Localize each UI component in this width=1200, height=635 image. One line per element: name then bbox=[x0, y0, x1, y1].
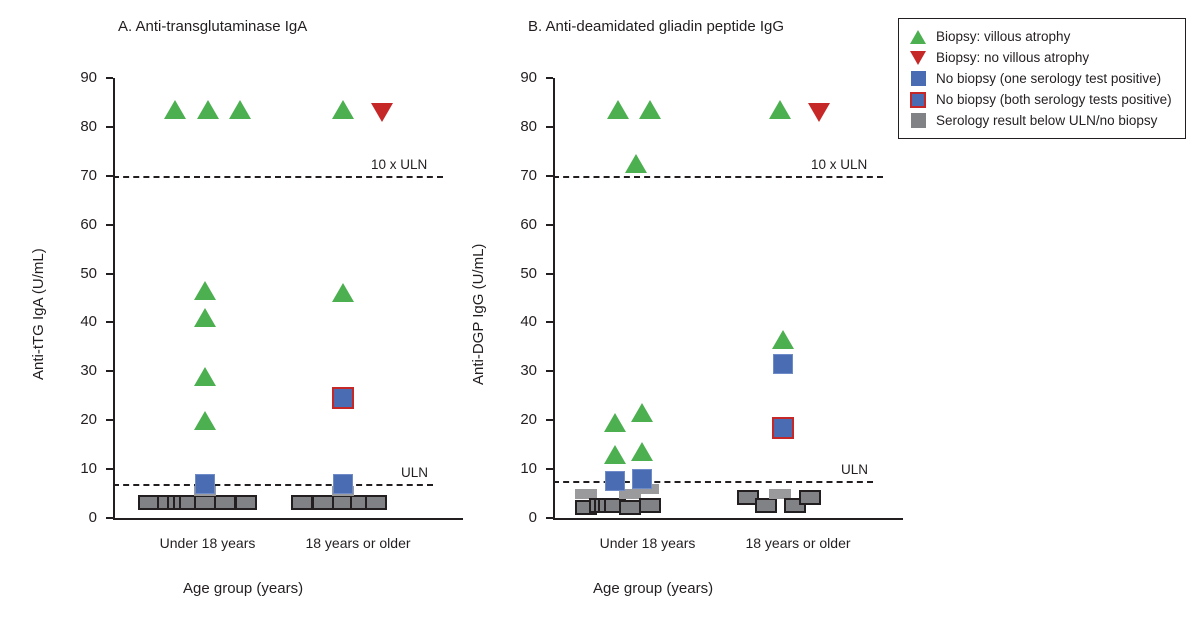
panel-b-x-axis-label: Age group (years) bbox=[593, 580, 713, 597]
y-tick-label: 10 bbox=[507, 460, 537, 477]
marker-triangle-up-green-icon bbox=[625, 154, 647, 173]
marker-triangle-up-green-icon bbox=[164, 100, 186, 119]
y-tick bbox=[106, 370, 113, 372]
marker-square-blue-icon bbox=[773, 354, 793, 374]
y-tick-label: 40 bbox=[67, 313, 97, 330]
reference-line-label: 10 x ULN bbox=[811, 157, 867, 172]
y-tick-label: 50 bbox=[507, 265, 537, 282]
y-tick bbox=[546, 126, 553, 128]
reference-line-label: ULN bbox=[841, 462, 868, 477]
marker-square-blue-icon bbox=[605, 471, 625, 491]
legend-triangle-up-green-icon bbox=[907, 30, 929, 44]
marker-triangle-up-green-icon bbox=[332, 100, 354, 119]
y-tick bbox=[546, 419, 553, 421]
panel-a-y-axis-label: Anti-tTG IgA (U/mL) bbox=[30, 248, 47, 380]
panel-b-y-axis-label: Anti-DGP IgG (U/mL) bbox=[470, 244, 487, 385]
reference-line-ten-uln bbox=[113, 176, 443, 178]
marker-square-gray-icon bbox=[799, 490, 821, 505]
y-tick bbox=[106, 175, 113, 177]
y-tick-label: 30 bbox=[507, 362, 537, 379]
y-tick bbox=[106, 321, 113, 323]
x-category-label: 18 years or older bbox=[723, 535, 873, 551]
y-tick-label: 70 bbox=[67, 167, 97, 184]
y-tick-label: 80 bbox=[67, 118, 97, 135]
y-tick bbox=[106, 468, 113, 470]
x-category-label: Under 18 years bbox=[133, 535, 283, 551]
reference-line-uln bbox=[553, 481, 873, 483]
marker-triangle-up-green-icon bbox=[194, 281, 216, 300]
y-tick bbox=[106, 419, 113, 421]
panel-a-x-axis-label: Age group (years) bbox=[183, 580, 303, 597]
y-tick bbox=[106, 517, 113, 519]
marker-triangle-up-green-icon bbox=[639, 100, 661, 119]
panel-a-x-axis-line bbox=[113, 518, 463, 520]
marker-triangle-up-green-icon bbox=[604, 413, 626, 432]
reference-line-ten-uln bbox=[553, 176, 883, 178]
legend-item-label: No biopsy (both serology tests positive) bbox=[936, 93, 1172, 107]
marker-triangle-up-green-icon bbox=[769, 100, 791, 119]
panel-a: A. Anti-transglutaminase IgA Anti-tTG Ig… bbox=[0, 0, 500, 635]
marker-square-blue-icon bbox=[632, 469, 652, 489]
legend-square-blue-red-border-icon bbox=[907, 92, 929, 108]
marker-square-gray-icon bbox=[755, 498, 777, 513]
marker-square-blue-red-border-icon bbox=[772, 417, 794, 439]
marker-square-gray-icon bbox=[619, 500, 641, 515]
y-tick-label: 60 bbox=[507, 216, 537, 233]
y-tick-label: 0 bbox=[507, 509, 537, 526]
marker-square-gray-icon bbox=[639, 498, 661, 513]
marker-triangle-down-red-icon bbox=[371, 103, 393, 122]
y-tick-label: 30 bbox=[67, 362, 97, 379]
panel-b-title: B. Anti-deamidated gliadin peptide IgG bbox=[528, 18, 784, 35]
y-tick-label: 40 bbox=[507, 313, 537, 330]
legend-item-label: Serology result below ULN/no biopsy bbox=[936, 114, 1157, 128]
marker-square-blue-icon bbox=[333, 474, 353, 494]
legend-item[interactable]: No biopsy (one serology test positive) bbox=[907, 68, 1176, 89]
marker-triangle-down-red-icon bbox=[808, 103, 830, 122]
y-tick bbox=[546, 273, 553, 275]
y-tick bbox=[546, 175, 553, 177]
x-category-label: Under 18 years bbox=[573, 535, 723, 551]
reference-line-label: 10 x ULN bbox=[371, 157, 427, 172]
panel-a-plot-area: 010203040506070809010 x ULNULNUnder 18 y… bbox=[113, 78, 463, 518]
x-category-label: 18 years or older bbox=[283, 535, 433, 551]
y-tick bbox=[106, 224, 113, 226]
legend-item[interactable]: No biopsy (both serology tests positive) bbox=[907, 89, 1176, 110]
reference-line-label: ULN bbox=[401, 465, 428, 480]
y-tick-label: 20 bbox=[507, 411, 537, 428]
panel-b-plot-area: 010203040506070809010 x ULNULNUnder 18 y… bbox=[553, 78, 903, 518]
legend-item[interactable]: Serology result below ULN/no biopsy bbox=[907, 110, 1176, 131]
y-tick bbox=[106, 126, 113, 128]
legend: Biopsy: villous atrophyBiopsy: no villou… bbox=[898, 18, 1186, 139]
marker-triangle-up-green-icon bbox=[631, 403, 653, 422]
marker-square-gray-icon bbox=[312, 495, 334, 510]
panel-b: B. Anti-deamidated gliadin peptide IgG A… bbox=[440, 0, 940, 635]
panel-b-x-axis-line bbox=[553, 518, 903, 520]
marker-square-gray-icon bbox=[291, 495, 313, 510]
marker-square-blue-icon bbox=[195, 474, 215, 494]
y-tick bbox=[546, 77, 553, 79]
marker-triangle-up-green-icon bbox=[197, 100, 219, 119]
legend-item[interactable]: Biopsy: villous atrophy bbox=[907, 26, 1176, 47]
marker-triangle-up-green-icon bbox=[194, 411, 216, 430]
y-tick-label: 20 bbox=[67, 411, 97, 428]
panel-a-title: A. Anti-transglutaminase IgA bbox=[118, 18, 307, 35]
y-tick bbox=[106, 273, 113, 275]
y-tick-label: 50 bbox=[67, 265, 97, 282]
marker-triangle-up-green-icon bbox=[229, 100, 251, 119]
marker-triangle-up-green-icon bbox=[194, 367, 216, 386]
y-tick-label: 10 bbox=[67, 460, 97, 477]
y-tick bbox=[546, 321, 553, 323]
legend-item-label: Biopsy: villous atrophy bbox=[936, 30, 1070, 44]
legend-square-blue-icon bbox=[907, 71, 929, 86]
y-tick-label: 0 bbox=[67, 509, 97, 526]
marker-triangle-up-green-icon bbox=[631, 442, 653, 461]
y-tick-label: 90 bbox=[67, 69, 97, 86]
marker-square-gray-icon bbox=[235, 495, 257, 510]
y-tick bbox=[546, 517, 553, 519]
marker-triangle-up-green-icon bbox=[194, 308, 216, 327]
y-tick-label: 60 bbox=[67, 216, 97, 233]
y-tick-label: 70 bbox=[507, 167, 537, 184]
marker-triangle-up-green-icon bbox=[332, 283, 354, 302]
marker-square-gray-icon bbox=[194, 495, 216, 510]
y-tick bbox=[546, 370, 553, 372]
marker-triangle-up-green-icon bbox=[607, 100, 629, 119]
marker-square-gray-icon bbox=[214, 495, 236, 510]
y-tick bbox=[106, 77, 113, 79]
reference-line-uln bbox=[113, 484, 433, 486]
marker-square-gray-icon bbox=[365, 495, 387, 510]
legend-square-gray-icon bbox=[907, 113, 929, 128]
y-tick bbox=[546, 224, 553, 226]
legend-triangle-down-red-icon bbox=[907, 51, 929, 65]
marker-triangle-up-green-icon bbox=[604, 445, 626, 464]
legend-item-label: No biopsy (one serology test positive) bbox=[936, 72, 1161, 86]
y-tick-label: 90 bbox=[507, 69, 537, 86]
legend-item-label: Biopsy: no villous atrophy bbox=[936, 51, 1089, 65]
y-tick-label: 80 bbox=[507, 118, 537, 135]
marker-triangle-up-green-icon bbox=[772, 330, 794, 349]
y-tick bbox=[546, 468, 553, 470]
legend-item[interactable]: Biopsy: no villous atrophy bbox=[907, 47, 1176, 68]
marker-square-blue-red-border-icon bbox=[332, 387, 354, 409]
